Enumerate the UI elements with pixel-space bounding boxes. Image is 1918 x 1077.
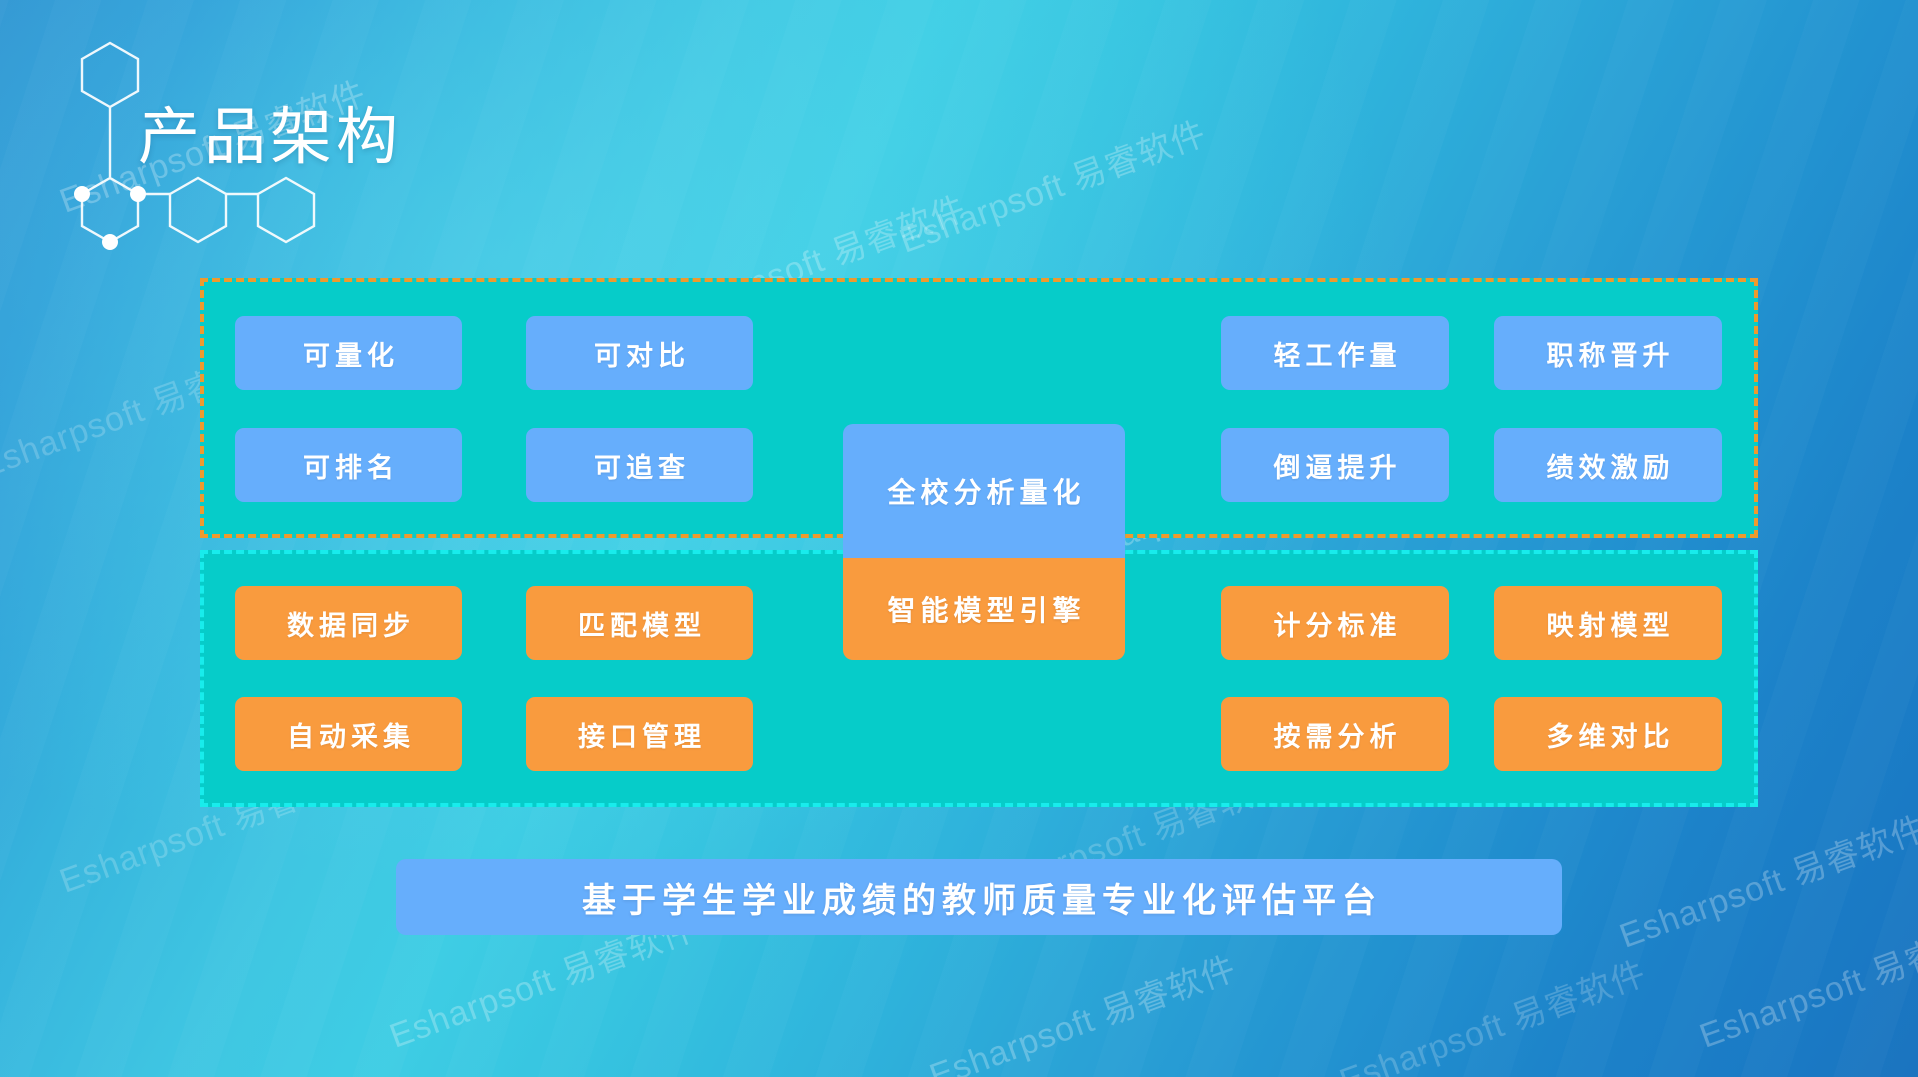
watermark-text: Esharpsoft 易睿软件 bbox=[1612, 801, 1918, 958]
card-center-analysis[interactable]: 全校分析量化 bbox=[843, 424, 1125, 558]
card-capability-0[interactable]: 数据同步 bbox=[235, 586, 462, 660]
card-capability-5[interactable]: 映射模型 bbox=[1494, 586, 1722, 660]
card-outcome-2[interactable]: 可排名 bbox=[235, 428, 462, 502]
card-outcome-1[interactable]: 可对比 bbox=[526, 316, 753, 390]
card-capability-6[interactable]: 按需分析 bbox=[1221, 697, 1449, 771]
slide-root: Esharpsoft 易睿软件Esharpsoft 易睿软件Esharpsoft… bbox=[0, 0, 1918, 1077]
card-capability-2[interactable]: 自动采集 bbox=[235, 697, 462, 771]
card-center-engine[interactable]: 智能模型引擎 bbox=[843, 558, 1125, 660]
card-outcome-5[interactable]: 职称晋升 bbox=[1494, 316, 1722, 390]
card-outcome-7[interactable]: 绩效激励 bbox=[1494, 428, 1722, 502]
card-outcome-3[interactable]: 可追查 bbox=[526, 428, 753, 502]
card-capability-1[interactable]: 匹配模型 bbox=[526, 586, 753, 660]
card-outcome-0[interactable]: 可量化 bbox=[235, 316, 462, 390]
watermark-text: Esharpsoft 易睿软件 bbox=[922, 941, 1242, 1077]
card-outcome-4[interactable]: 轻工作量 bbox=[1221, 316, 1449, 390]
card-capability-4[interactable]: 计分标准 bbox=[1221, 586, 1449, 660]
platform-banner[interactable]: 基于学生学业成绩的教师质量专业化评估平台 bbox=[396, 859, 1562, 935]
watermark-text: Esharpsoft 易睿软件 bbox=[1692, 901, 1918, 1058]
page-title: 产品架构 bbox=[138, 86, 402, 176]
card-capability-3[interactable]: 接口管理 bbox=[526, 697, 753, 771]
watermark-text: Esharpsoft 易睿软件 bbox=[892, 106, 1212, 263]
card-outcome-6[interactable]: 倒逼提升 bbox=[1221, 428, 1449, 502]
card-capability-7[interactable]: 多维对比 bbox=[1494, 697, 1722, 771]
watermark-text: Esharpsoft 易睿软件 bbox=[1332, 946, 1652, 1077]
